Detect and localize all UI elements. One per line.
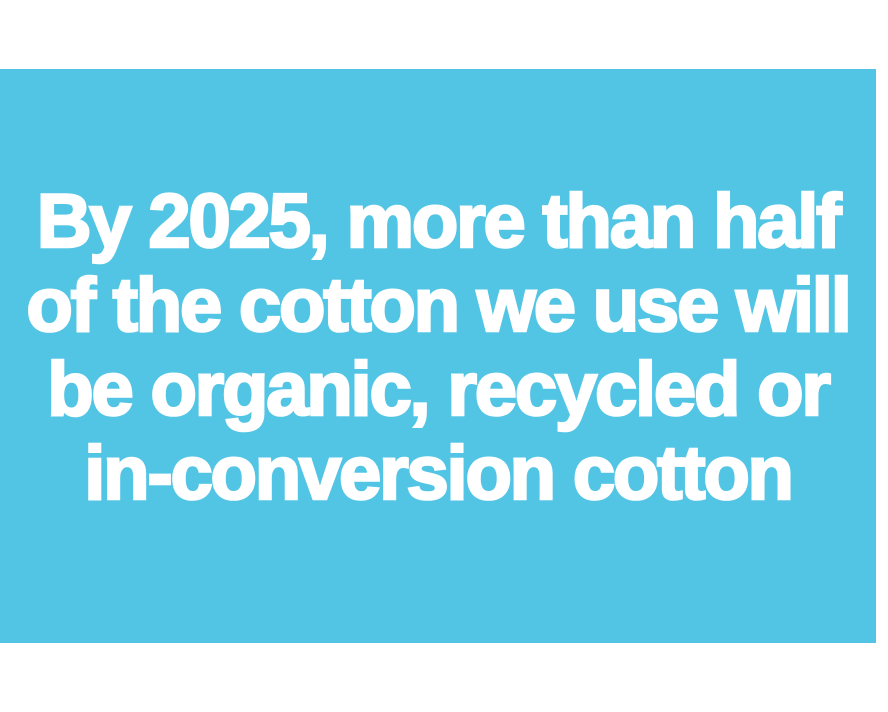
headline-line-4: in-conversion cotton [0, 432, 876, 516]
headline-statement: By 2025, more than half of the cotton we… [0, 180, 876, 524]
headline-line-2: of the cotton we use will [0, 264, 876, 348]
headline-line-3: be organic, recycled or [0, 348, 876, 432]
statement-banner: By 2025, more than half of the cotton we… [0, 69, 876, 643]
slide-canvas: By 2025, more than half of the cotton we… [0, 0, 888, 712]
headline-line-1: By 2025, more than half [0, 180, 876, 264]
